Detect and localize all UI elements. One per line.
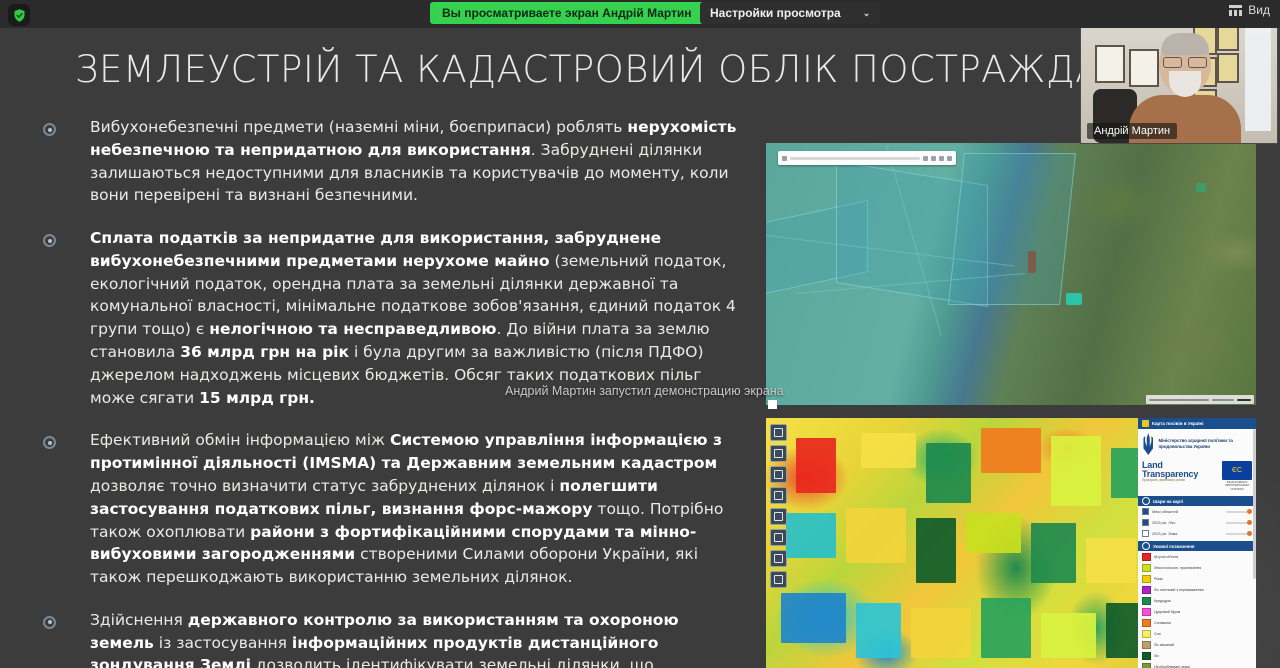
view-button[interactable]: Вид — [1229, 3, 1270, 17]
map-feature — [1028, 251, 1036, 273]
screen-share-banner-label: Вы просматриваете экран Андрій Мартин — [442, 6, 692, 20]
raster-cell — [846, 508, 906, 563]
legend-class-label: Соняшник — [1154, 621, 1171, 625]
zoom-top-toolbar: Вы просматриваете экран Андрій Мартин На… — [0, 0, 1280, 28]
map-feature — [1066, 293, 1082, 305]
legend-class-label: Необроблювані землі — [1154, 665, 1190, 668]
legend-classes-label: Умовні позначення — [1153, 544, 1194, 549]
legend-class-label: Ліс мішаний — [1154, 643, 1174, 647]
list-item[interactable]: 2023 рік. Зима — [1138, 528, 1256, 539]
home-icon[interactable] — [770, 466, 787, 483]
brand-subtitle: Прозорість земельних ринків — [1142, 478, 1198, 482]
legend-class-item: Соя — [1138, 628, 1256, 639]
download-icon[interactable] — [931, 156, 936, 161]
legend-class-item: Ліс — [1138, 650, 1256, 661]
wall-frame — [1129, 49, 1159, 87]
info-icon — [1142, 542, 1150, 550]
legend-class-label: Ліс — [1154, 654, 1159, 658]
bullet-marker-icon — [43, 436, 56, 449]
opacity-slider[interactable] — [1226, 522, 1252, 524]
draw-icon[interactable] — [770, 529, 787, 546]
satellite-cadastre-map[interactable] — [766, 143, 1256, 405]
ministry-label: Міністерство аграрної політики та продов… — [1159, 438, 1252, 450]
layer-checkbox[interactable] — [1142, 530, 1149, 537]
zoom-in-icon[interactable] — [770, 424, 787, 441]
legend-layers-section: Шари на карті — [1138, 496, 1256, 506]
legend-class-label: Землі сільгосп. призначення — [1154, 566, 1201, 570]
legend-class-item: Ліс мішаний — [1138, 639, 1256, 650]
person-hair — [1161, 33, 1209, 55]
slide-marker — [768, 400, 777, 409]
legend-color-swatch — [1142, 663, 1151, 668]
eu-flag-icon: ЄС — [1222, 461, 1252, 480]
print-icon[interactable] — [939, 156, 944, 161]
view-settings-label: Настройки просмотра — [710, 6, 841, 20]
raster-cell — [926, 443, 971, 503]
legend-color-swatch — [1142, 608, 1151, 616]
raster-cell — [916, 518, 956, 583]
map-legend-panel[interactable]: Карта посівів в Україні Міністерство агр… — [1138, 418, 1256, 668]
participant-name-label: Андрій Мартин — [1087, 123, 1177, 139]
search-icon[interactable] — [770, 571, 787, 588]
wall-frame — [1217, 53, 1239, 83]
coat-of-arms-icon — [1142, 420, 1149, 427]
opacity-slider[interactable] — [1226, 511, 1252, 513]
raster-cell — [981, 598, 1031, 658]
legend-class-item: Ліс листяний з переважанням — [1138, 584, 1256, 595]
brand-line-2: Transparency — [1142, 470, 1198, 479]
crop-classification-map[interactable]: Карта посівів в Україні Міністерство агр… — [766, 418, 1256, 668]
legend-header: Карта посівів в Україні — [1138, 418, 1256, 429]
layer-checkbox[interactable] — [1142, 519, 1149, 526]
legend-class-item: Необроблювані землі — [1138, 661, 1256, 668]
legend-class-item: Кукурудза — [1138, 595, 1256, 606]
legend-color-swatch — [1142, 586, 1151, 594]
grid-layout-icon — [1229, 5, 1242, 16]
parcel-outline — [948, 153, 1076, 305]
legend-class-label: Соя — [1154, 632, 1161, 636]
list-item: Вибухонебезпечні предмети (наземні міни,… — [40, 116, 740, 207]
raster-cell — [1031, 523, 1076, 583]
raster-cell — [1041, 613, 1096, 658]
wall-frame — [1095, 45, 1125, 83]
layers-icon[interactable] — [770, 487, 787, 504]
window-light — [1245, 21, 1271, 131]
screenshare-notification: Андрий Мартин запустил демонстрацию экра… — [505, 384, 784, 398]
raster-cell — [786, 513, 836, 558]
legend-color-swatch — [1142, 553, 1151, 561]
list-item: Здійснення державного контролю за викори… — [40, 609, 740, 668]
layers-icon — [1142, 497, 1150, 505]
legend-class-label: Кукурудза — [1154, 599, 1171, 603]
bullet-text: Вибухонебезпечні предмети (наземні міни,… — [90, 116, 740, 207]
bullet-text: Ефективний обмін інформацією між Системо… — [90, 429, 740, 588]
view-settings-dropdown[interactable]: Настройки просмотра ⌄ — [700, 2, 880, 24]
legend-classes-section: Умовні позначення — [1138, 541, 1256, 551]
legend-color-swatch — [1142, 564, 1151, 572]
legend-class-item: Землі сільгосп. призначення — [1138, 562, 1256, 573]
legend-color-swatch — [1142, 619, 1151, 627]
legend-color-swatch — [1142, 630, 1151, 638]
bullet-text: Здійснення державного контролю за викори… — [90, 609, 740, 668]
opacity-slider[interactable] — [1226, 533, 1252, 535]
locate-icon[interactable] — [770, 550, 787, 567]
brand-name: Land Transparency — [1142, 461, 1198, 478]
raster-cell — [1086, 538, 1136, 583]
raster-cell — [966, 513, 1021, 553]
legend-class-item: Ріпак — [1138, 573, 1256, 584]
layer-checkbox[interactable] — [1142, 508, 1149, 515]
zoom-screenshare-window: Вы просматриваете экран Андрій Мартин На… — [0, 0, 1280, 668]
raster-cell — [781, 593, 846, 643]
bullet-text: Сплата податків за непридатне для викори… — [90, 227, 740, 409]
raster-cell — [911, 608, 971, 658]
shield-check-icon[interactable] — [8, 4, 30, 26]
list-item[interactable]: Межі областей — [1138, 506, 1256, 517]
chevron-down-icon: ⌄ — [863, 8, 871, 19]
brand-block: Land Transparency Прозорість земельних р… — [1138, 459, 1256, 494]
bullet-marker-icon — [43, 234, 56, 247]
map-search-placeholder — [790, 157, 920, 160]
raster-cell — [1106, 603, 1141, 658]
legend-class-item: Соняшник — [1138, 617, 1256, 628]
eu-badge-label: ЄС — [1232, 467, 1242, 474]
legend-color-swatch — [1142, 575, 1151, 583]
legend-layers-label: Шари на карті — [1153, 499, 1183, 504]
legend-scrollbar[interactable] — [1253, 429, 1256, 579]
legend-layer-list: Межі областей 2023 рік. Літо 2023 рік. З… — [1138, 506, 1256, 539]
map-search-input[interactable] — [778, 151, 956, 165]
raster-cell — [861, 433, 916, 468]
raster-cell — [981, 428, 1041, 473]
bullet-marker-icon — [43, 616, 56, 629]
legend-class-list: Штучні об'єктиЗемлі сільгосп. призначенн… — [1138, 551, 1256, 668]
eu-caption: ФІНАНСОВАНО ЄВРОПЕЙСЬКИМ СОЮЗОМ — [1222, 481, 1252, 491]
layer-label: 2023 рік. Зима — [1152, 532, 1223, 536]
legend-class-item: Штучні об'єкти — [1138, 551, 1256, 562]
legend-class-item: Цукровий буряк — [1138, 606, 1256, 617]
list-item[interactable]: 2023 рік. Літо — [1138, 517, 1256, 528]
map-toolbar[interactable] — [770, 424, 785, 588]
legend-color-swatch — [1142, 641, 1151, 649]
menu-icon[interactable] — [947, 156, 952, 161]
screen-share-banner: Вы просматриваете экран Андрій Мартин — [430, 2, 704, 24]
raster-cell — [1111, 448, 1141, 498]
legend-class-label: Ліс листяний з переважанням — [1154, 588, 1204, 592]
layer-label: 2023 рік. Літо — [1152, 521, 1223, 525]
raster-cell — [856, 603, 901, 658]
measure-icon[interactable] — [770, 508, 787, 525]
tryzub-icon — [1142, 433, 1155, 455]
search-icon — [782, 156, 787, 161]
layers-icon[interactable] — [923, 156, 928, 161]
bullet-marker-icon — [43, 123, 56, 136]
legend-color-swatch — [1142, 652, 1151, 660]
legend-header-label: Карта посівів в Україні — [1152, 421, 1204, 426]
raster-cell — [1051, 436, 1101, 506]
zoom-out-icon[interactable] — [770, 445, 787, 462]
list-item: Ефективний обмін інформацією між Системо… — [40, 429, 740, 588]
list-item: Сплата податків за непридатне для викори… — [40, 227, 740, 409]
legend-class-label: Цукровий буряк — [1154, 610, 1180, 614]
map-attribution — [1146, 395, 1254, 404]
ministry-block: Міністерство аграрної політики та продов… — [1138, 429, 1256, 459]
participant-video-tile[interactable]: Андрій Мартин — [1080, 16, 1278, 144]
layer-label: Межі областей — [1152, 510, 1223, 514]
glasses-icon — [1163, 57, 1207, 66]
raster-cell — [796, 438, 836, 493]
legend-class-label: Штучні об'єкти — [1154, 555, 1178, 559]
legend-color-swatch — [1142, 597, 1151, 605]
legend-class-label: Ріпак — [1154, 577, 1163, 581]
view-button-label: Вид — [1248, 3, 1270, 17]
map-feature — [1196, 183, 1206, 192]
